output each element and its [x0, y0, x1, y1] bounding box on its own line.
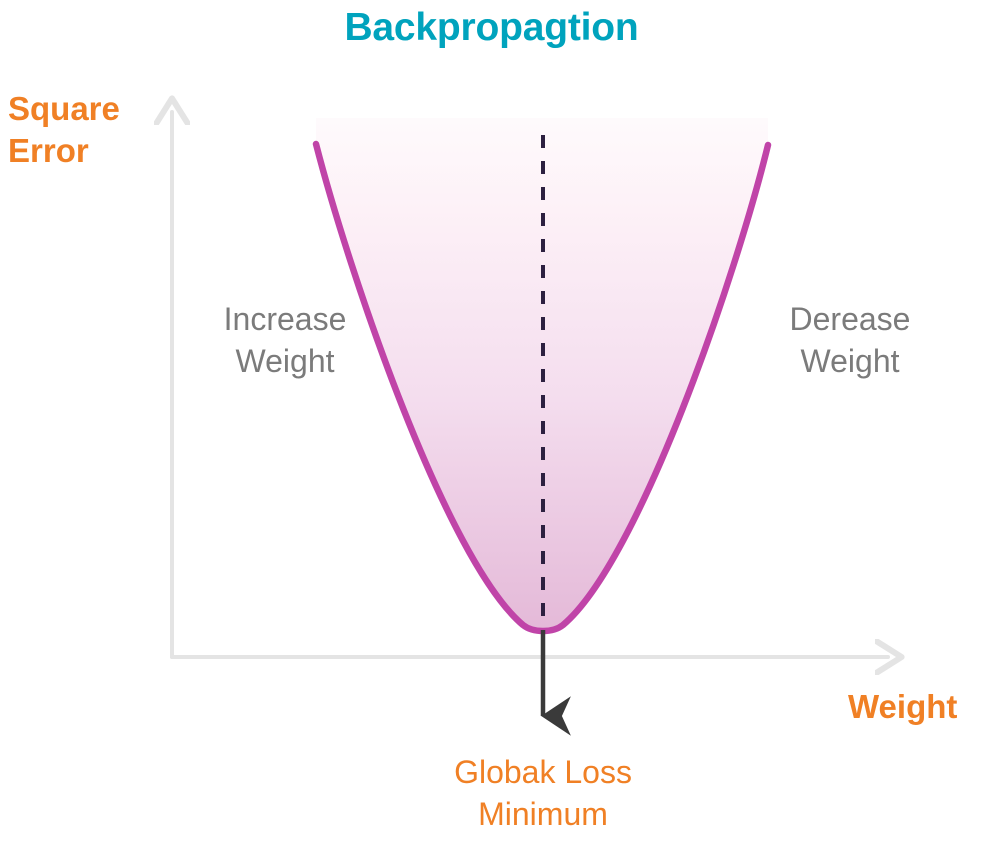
annotation-increase-weight: Increase Weight — [190, 298, 380, 382]
caption-global-loss-minimum-line-2: Minimum — [393, 794, 693, 836]
annotation-decrease-weight: Derease Weight — [760, 298, 940, 382]
y-axis-label-line-1: Square — [8, 88, 158, 130]
annotation-decrease-weight-line-2: Weight — [760, 340, 940, 382]
y-axis-label-line-2: Error — [8, 130, 158, 172]
y-axis-label: Square Error — [8, 88, 158, 172]
annotation-increase-weight-line-1: Increase — [190, 298, 380, 340]
caption-global-loss-minimum-line-1: Globak Loss — [393, 752, 693, 794]
diagram-canvas: Backpropagtion — [0, 0, 983, 849]
x-axis-label: Weight — [848, 688, 957, 726]
annotation-decrease-weight-line-1: Derease — [760, 298, 940, 340]
annotation-increase-weight-line-2: Weight — [190, 340, 380, 382]
caption-global-loss-minimum: Globak Loss Minimum — [393, 752, 693, 835]
